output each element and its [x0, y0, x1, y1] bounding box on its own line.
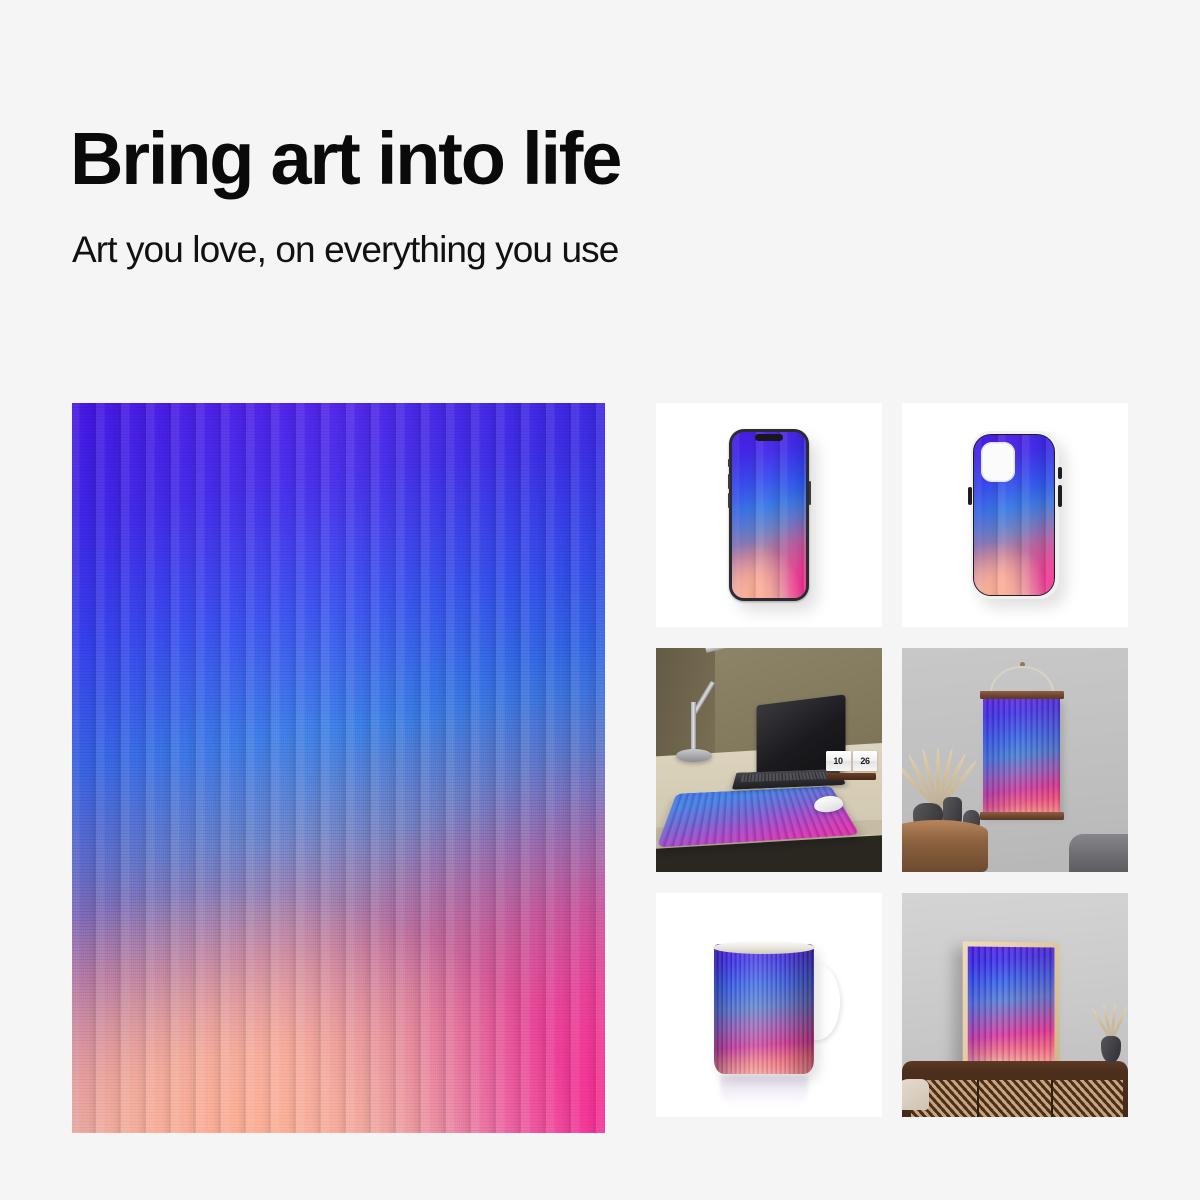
- sideboard-scene: [902, 893, 1128, 1117]
- product-tile-framed-print[interactable]: [902, 893, 1128, 1117]
- product-tile-phone[interactable]: [656, 403, 882, 627]
- phone-case-mockup: [971, 431, 1059, 599]
- sofa: [1069, 834, 1128, 872]
- mug: [714, 944, 814, 1074]
- frame-art-stripes: [968, 947, 1055, 1063]
- case-side-cutout-top: [1058, 467, 1062, 479]
- phone-case-body: [971, 431, 1059, 599]
- armchair: [902, 1079, 929, 1110]
- phone-body: [729, 429, 809, 601]
- mug-mockup: [714, 944, 814, 1074]
- product-tile-wall-hanging[interactable]: [902, 648, 1128, 872]
- sideboard-seam-left: [977, 1080, 979, 1117]
- phone-mute-switch-icon: [728, 459, 730, 467]
- mug-rim: [713, 941, 815, 954]
- mug-body-artwork: [714, 944, 814, 1074]
- hanger-rail-bottom: [980, 812, 1065, 820]
- living-room-scene: [902, 648, 1128, 872]
- wall-hanging-mockup: [983, 691, 1060, 821]
- product-tile-phone-case[interactable]: [902, 403, 1128, 627]
- sideboard-seam-right: [1051, 1080, 1053, 1117]
- hanging-art-stripes: [983, 698, 1060, 815]
- phone-power-button: [809, 481, 811, 505]
- calendar-wooden-stand: [827, 773, 877, 781]
- case-volume-cutout: [968, 487, 972, 505]
- phone-art-stripes: [732, 432, 806, 598]
- promo-page: Bring art into life Art you love, on eve…: [0, 0, 1200, 1200]
- product-tile-mug[interactable]: [656, 893, 882, 1117]
- main-artwork-image[interactable]: [72, 403, 605, 1133]
- case-power-cutout: [1058, 485, 1062, 507]
- camera-cutout-icon: [981, 442, 1015, 482]
- product-mockup-grid: 10 26: [656, 403, 1128, 1133]
- desk-scene: 10 26: [656, 648, 882, 872]
- round-side-table: [902, 820, 988, 872]
- calendar-day-card: 26: [853, 751, 878, 771]
- phone-dynamic-island: [755, 434, 783, 441]
- calendar-cards: 10 26: [826, 751, 878, 771]
- flip-calendar: 10 26: [826, 751, 878, 780]
- phone-mockup: [729, 429, 809, 601]
- dried-grass-decor: [1094, 1003, 1126, 1041]
- sideboard-herringbone-doors: [911, 1080, 1123, 1117]
- calendar-month-card: 10: [826, 751, 851, 771]
- page-title: Bring art into life: [70, 122, 620, 196]
- wooden-sideboard: [902, 1061, 1128, 1117]
- phone-volume-down-button: [728, 493, 730, 508]
- page-subtitle: Art you love, on everything you use: [72, 231, 618, 268]
- phone-screen-artwork: [732, 432, 806, 598]
- framed-print-artwork: [968, 947, 1055, 1063]
- mug-reflection: [720, 1076, 808, 1106]
- case-artwork-surface: [973, 434, 1055, 596]
- framed-print-mockup: [963, 942, 1060, 1069]
- phone-volume-up-button: [728, 474, 730, 489]
- artwork-grain-overlay: [72, 403, 605, 1133]
- lamp-stem: [691, 702, 696, 754]
- hanger-rail-top: [980, 691, 1065, 699]
- hanging-artwork: [983, 698, 1060, 815]
- product-tile-desk-mat[interactable]: 10 26: [656, 648, 882, 872]
- mug-cylinder-shading: [714, 944, 814, 1074]
